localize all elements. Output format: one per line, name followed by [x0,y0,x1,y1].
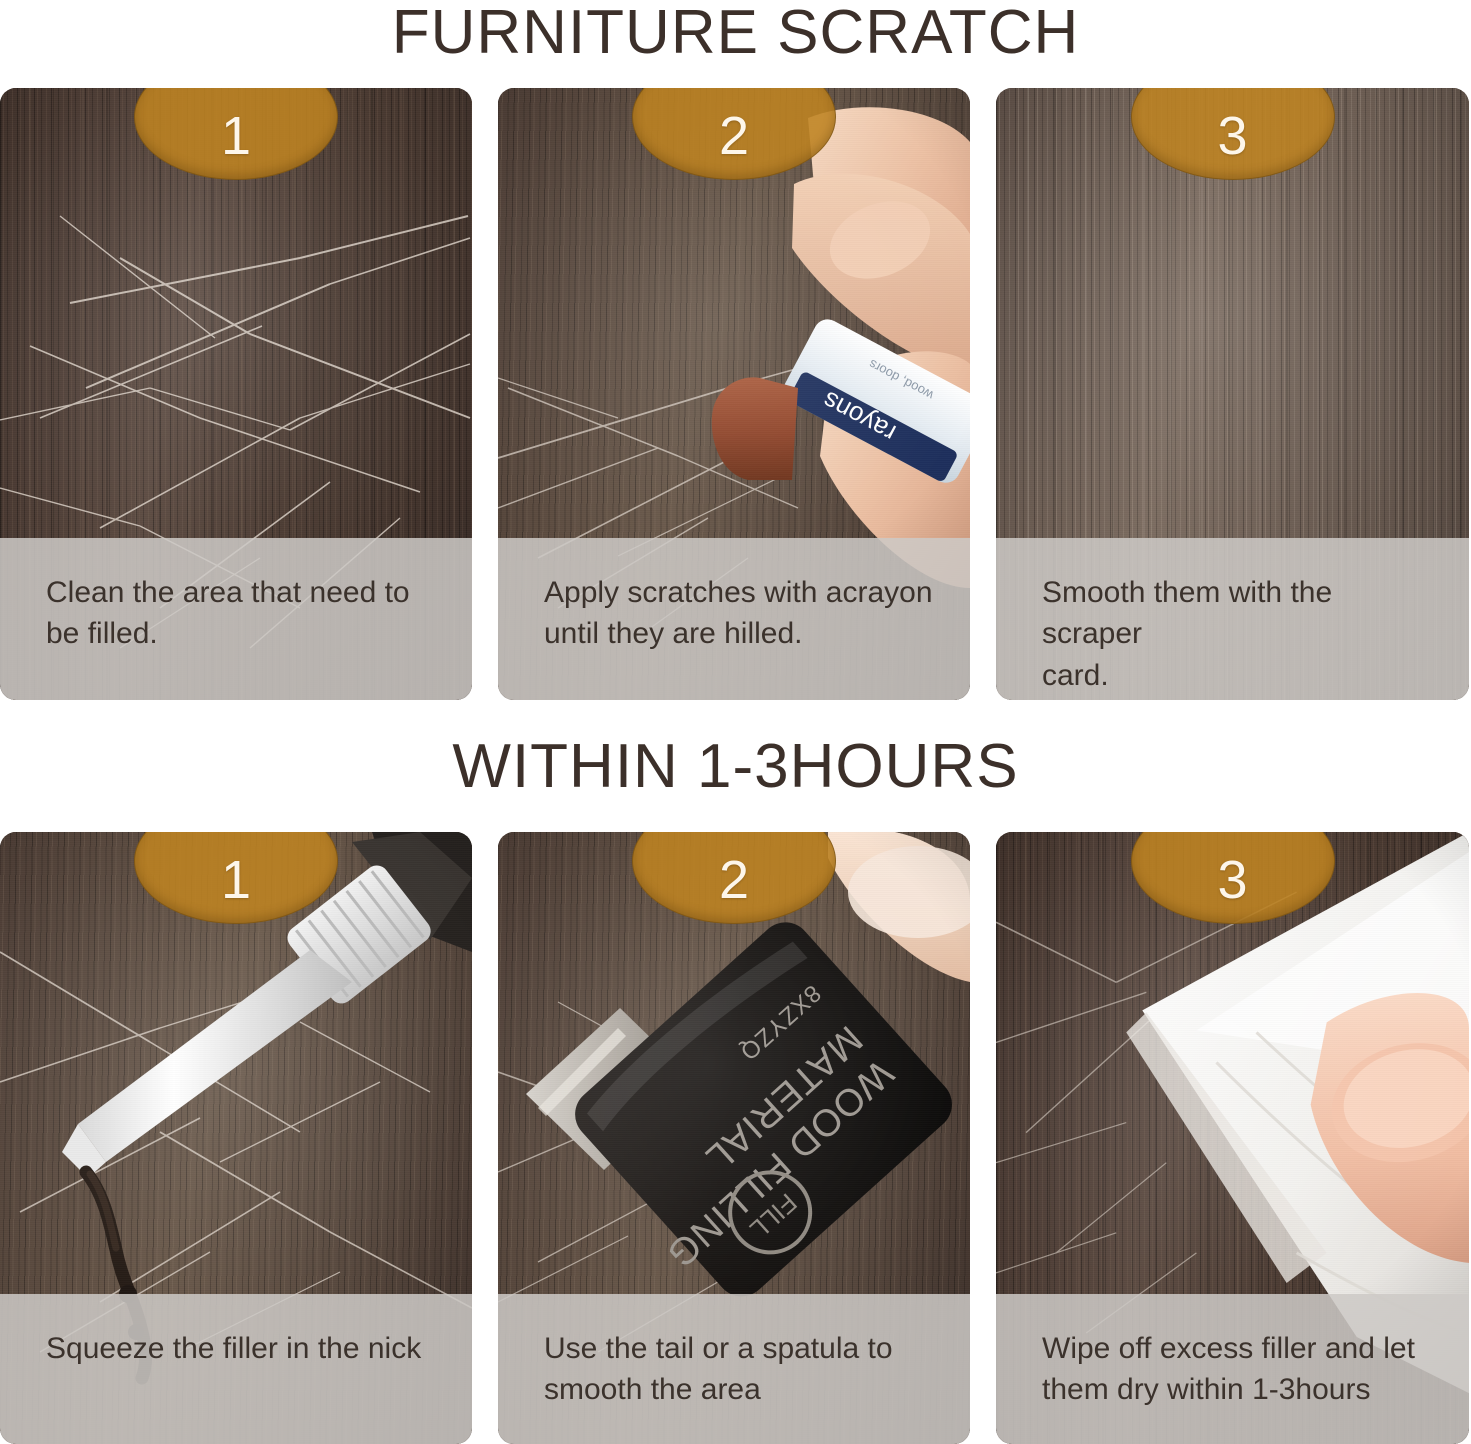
step-panel-2-3[interactable]: 3 Wipe off excess filler and let them dr… [996,832,1469,1444]
step-number: 2 [719,109,749,163]
step-caption-text: Clean the area that need to be filled. [46,572,436,655]
step-caption-text: Squeeze the filler in the nick [46,1328,436,1369]
step-caption-band-1-2: Apply scratches with acrayon until they … [498,538,970,700]
step-caption-band-2-3: Wipe off excess filler and let them dry … [996,1294,1469,1444]
step-caption-band-1-1: Clean the area that need to be filled. [0,538,472,700]
step-panel-2-2[interactable]: WOOD FILLING MATERIAL 8XZYZQ FILL 2 Use … [498,832,970,1444]
step-caption-text: Wipe off excess filler and let them dry … [1042,1328,1433,1411]
step-caption-band-2-1: Squeeze the filler in the nick [0,1294,472,1444]
step-number: 1 [221,853,251,907]
step-caption-band-1-3: Smooth them with the scraper card. [996,538,1469,700]
step-panel-1-3[interactable]: 3 Smooth them with the scraper card. [996,88,1469,700]
step-caption-text: Use the tail or a spatula to smooth the … [544,1328,934,1411]
step-caption-band-2-2: Use the tail or a spatula to smooth the … [498,1294,970,1444]
step-panel-1-2[interactable]: rayons wood, doors 2 Apply scratches wit… [498,88,970,700]
steps-row-within-hours: 1 Squeeze the filler in the nick [0,832,1471,1444]
step-number: 1 [221,109,251,163]
step-panel-2-1[interactable]: 1 Squeeze the filler in the nick [0,832,472,1444]
step-caption-text: Smooth them with the scraper card. [1042,572,1433,696]
step-panel-1-1[interactable]: 1 Clean the area that need to be filled. [0,88,472,700]
infographic-sheet: FURNITURE SCRATCH [0,0,1471,1444]
section-heading-furniture-scratch: FURNITURE SCRATCH [0,2,1471,64]
step-number: 3 [1217,853,1247,907]
step-number: 3 [1217,109,1247,163]
steps-row-furniture-scratch: 1 Clean the area that need to be filled. [0,88,1471,700]
step-number: 2 [719,853,749,907]
section-heading-within-1-3-hours: WITHIN 1-3HOURS [0,736,1471,798]
step-caption-text: Apply scratches with acrayon until they … [544,572,934,655]
